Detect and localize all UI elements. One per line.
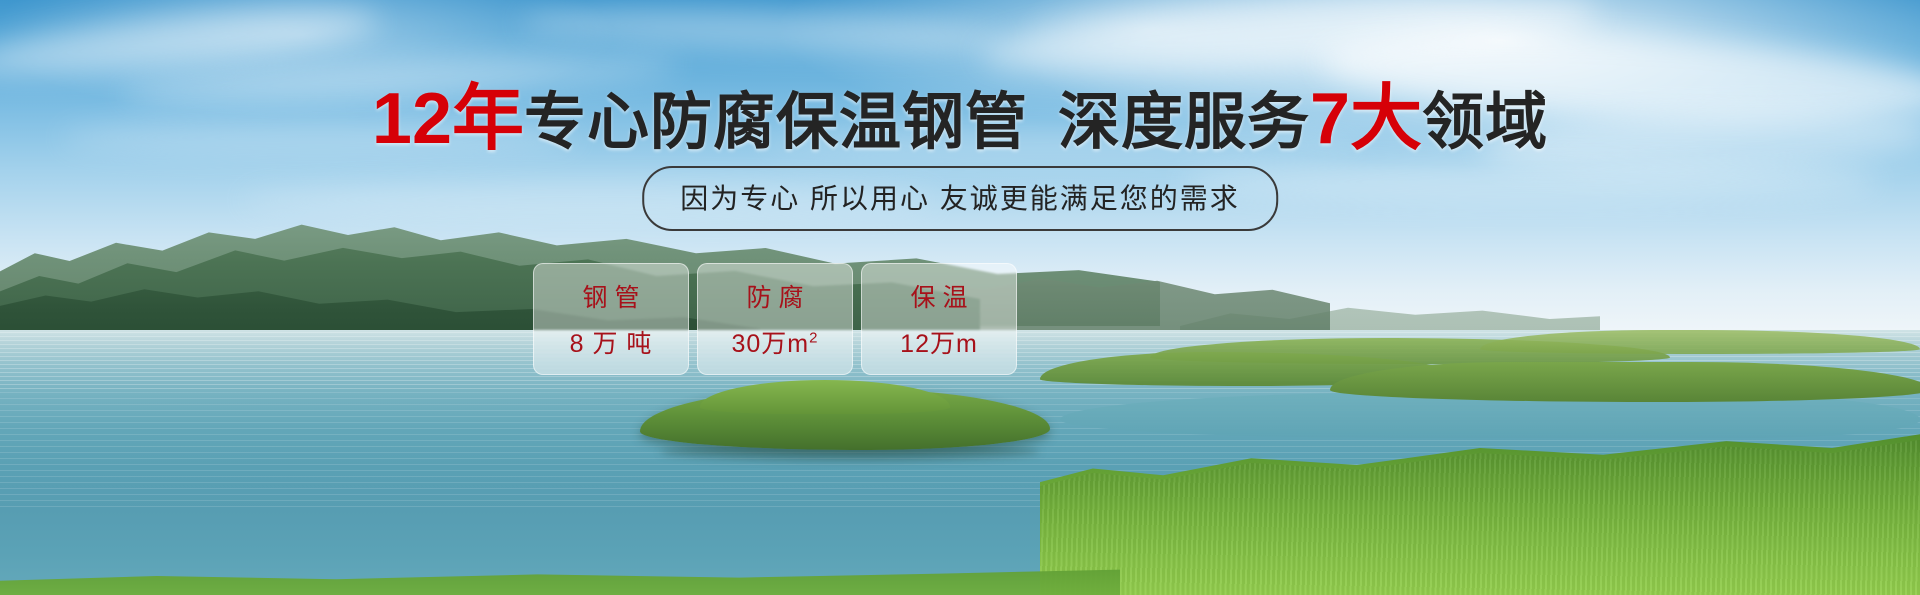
stat-card-value: 30万m2 bbox=[732, 324, 819, 360]
headline-count: 7大 bbox=[1310, 79, 1422, 159]
stat-card[interactable]: 保温 12万m bbox=[861, 263, 1017, 375]
banner-content: 12年专心防腐保温钢管深度服务7大领域 因为专心 所以用心 友诚更能满足您的需求… bbox=[0, 0, 1920, 595]
subtitle-pill: 因为专心 所以用心 友诚更能满足您的需求 bbox=[642, 166, 1278, 231]
stat-cards: 钢管 8 万 吨 防腐 30万m2 保温 12万m bbox=[533, 263, 1017, 375]
stat-card[interactable]: 钢管 8 万 吨 bbox=[533, 263, 689, 375]
headline-fields: 领域 bbox=[1422, 88, 1548, 157]
headline-years: 12年 bbox=[372, 79, 524, 159]
stat-value-text: 30万m bbox=[732, 330, 810, 358]
stat-card-label: 钢管 bbox=[575, 278, 646, 314]
stat-value-sup: 2 bbox=[809, 330, 818, 347]
stat-card-value: 12万m bbox=[900, 324, 978, 360]
headline: 12年专心防腐保温钢管深度服务7大领域 bbox=[0, 83, 1920, 155]
hero-banner: 12年专心防腐保温钢管深度服务7大领域 因为专心 所以用心 友诚更能满足您的需求… bbox=[0, 0, 1920, 595]
stat-card-label: 保温 bbox=[903, 278, 974, 314]
stat-value-text: 12万m bbox=[900, 330, 978, 358]
stat-card-label: 防腐 bbox=[739, 278, 810, 314]
headline-service: 深度服务 bbox=[1058, 88, 1310, 157]
stat-card-value: 8 万 吨 bbox=[570, 324, 653, 360]
stat-card[interactable]: 防腐 30万m2 bbox=[697, 263, 853, 375]
stat-value-text: 8 万 吨 bbox=[570, 330, 653, 358]
headline-main: 专心防腐保温钢管 bbox=[524, 88, 1028, 157]
